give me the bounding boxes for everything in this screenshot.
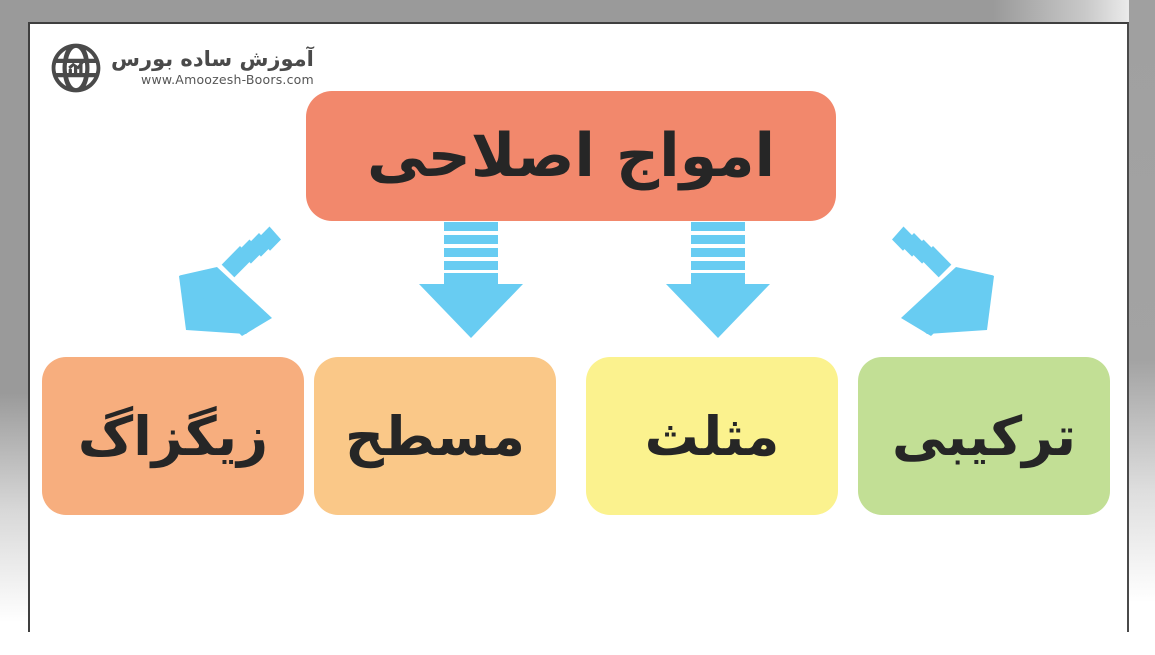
- brand-logo: آموزش ساده بورس www.Amoozesh-Boors.com: [50, 42, 314, 94]
- arrow-down-icon: [662, 220, 774, 340]
- category-label: مسطح: [345, 405, 525, 468]
- arrow-down-right-icon: [885, 220, 997, 340]
- arrow-down-icon: [415, 220, 527, 340]
- frame-edge-left: [0, 0, 28, 655]
- brand-url: www.Amoozesh-Boors.com: [141, 74, 314, 87]
- frame-edge-bottom: [0, 641, 1155, 655]
- category-label: مثلث: [645, 405, 780, 468]
- category-box-triangle[interactable]: مثلث: [586, 357, 838, 515]
- page-title: امواج اصلاحی: [367, 121, 775, 191]
- globe-chart-icon: [50, 42, 102, 94]
- category-box-zigzag[interactable]: زیگزاگ: [42, 357, 304, 515]
- frame-edge-right: [1129, 0, 1155, 655]
- category-box-combination[interactable]: ترکیبی: [858, 357, 1110, 515]
- brand-text: آموزش ساده بورس www.Amoozesh-Boors.com: [111, 49, 314, 87]
- slide-canvas: آموزش ساده بورس www.Amoozesh-Boors.com ا…: [0, 0, 1155, 655]
- diagram-title-box: امواج اصلاحی: [306, 91, 836, 221]
- category-label: زیگزاگ: [78, 405, 268, 468]
- arrow-down-left-icon: [176, 220, 288, 340]
- category-label: ترکیبی: [892, 405, 1076, 468]
- brand-name: آموزش ساده بورس: [111, 49, 314, 70]
- slide-panel: آموزش ساده بورس www.Amoozesh-Boors.com ا…: [28, 22, 1129, 632]
- frame-edge-top: [0, 0, 1155, 22]
- category-box-flat[interactable]: مسطح: [314, 357, 556, 515]
